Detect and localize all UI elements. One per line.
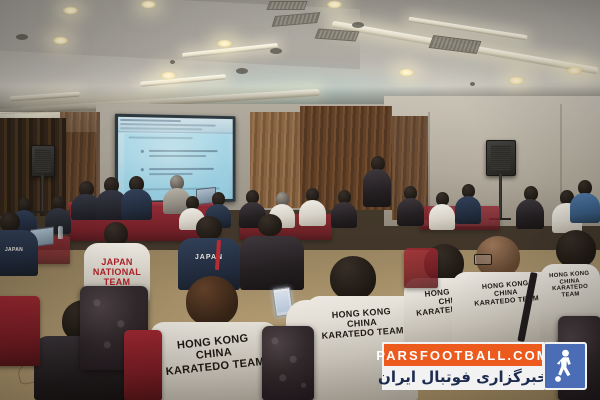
eyeglasses <box>474 254 492 265</box>
sprinkler-head-1 <box>170 60 175 64</box>
hk-jersey-text-1: HONG KONG CHINA KARATEDO TEAM <box>148 329 279 379</box>
audience-torso-b9 <box>455 196 481 224</box>
audience-torso-b7 <box>397 198 424 226</box>
hk-member-5-head <box>556 230 596 268</box>
japan-navy-member-1-torso: JAPAN <box>0 230 38 276</box>
audience-torso-b12 <box>570 193 600 223</box>
hk-jersey-text-2: HONG KONG CHINA KARATEDO TEAM <box>305 304 419 342</box>
standing-presenter-torso <box>363 169 391 207</box>
audience-torso-m1 <box>240 236 304 290</box>
audience-torso-b5 <box>299 200 326 226</box>
parsfootball-logo <box>543 342 587 390</box>
audience-torso-b6 <box>331 202 357 228</box>
hk-member-1-head <box>186 276 238 326</box>
hk-jersey-text-5: HONG KONG CHINA KARATEDO TEAM <box>541 270 599 301</box>
hk-member-2-head <box>330 256 376 300</box>
downlight-9 <box>566 66 583 75</box>
japan-national-team-jersey-text: JAPAN NATIONAL TEAM <box>84 257 150 287</box>
chair-red-3 <box>404 248 438 288</box>
downlight-3 <box>52 36 69 45</box>
ceiling-fixture-dark-4 <box>352 22 364 28</box>
japan-navy-member-1-head <box>0 212 20 232</box>
audience-torso-b8 <box>429 204 455 230</box>
downlight-7 <box>398 68 415 77</box>
ceiling-fixture-dark-3 <box>270 48 282 54</box>
conference-room-photo: JAPAN JAPAN NATIONAL TEAM JAPAN HONG KON… <box>0 0 600 400</box>
left-speaker-stand <box>41 175 44 213</box>
wall-seam-1 <box>428 112 430 216</box>
water-bottle-2 <box>58 226 63 239</box>
parsfootball-watermark: PARSFOOTBALL.COM خبرگزاری فوتبال ایران <box>382 342 587 390</box>
audience-torso-b10 <box>516 199 544 229</box>
japan-navy-jersey-text-2: JAPAN <box>178 254 240 262</box>
panel-member-3-torso <box>121 189 152 220</box>
ceiling-fixture-dark-1 <box>16 34 28 40</box>
document-toolbar <box>118 117 233 134</box>
downlight-1 <box>62 6 79 15</box>
hk-member-1-torso: HONG KONG CHINA KARATEDO TEAM <box>150 322 278 400</box>
japan-navy-member-2-head <box>196 216 222 240</box>
footballer-icon <box>552 349 578 383</box>
right-speaker <box>486 140 516 176</box>
downlight-5 <box>160 71 177 80</box>
chair-red-2 <box>124 330 162 400</box>
ceiling-fixture-dark-2 <box>236 68 248 74</box>
chair-dark-2-pattern <box>262 326 314 400</box>
watermark-persian-bar: خبرگزاری فوتبال ایران <box>382 366 544 390</box>
watermark-site-label: PARSFOOTBALL.COM <box>376 348 549 363</box>
left-speaker <box>31 145 55 177</box>
ceiling-vent-2 <box>266 1 307 10</box>
downlight-6 <box>326 0 343 9</box>
japan-navy-jersey-text-1: JAPAN <box>0 248 38 254</box>
watermark-persian-label: خبرگزاری فوتبال ایران <box>378 368 548 386</box>
chair-red-1 <box>0 296 40 366</box>
audience-head-m1 <box>258 214 282 236</box>
downlight-2 <box>140 0 157 9</box>
downlight-8 <box>508 76 525 85</box>
downlight-4 <box>216 39 233 48</box>
watermark-site-bar: PARSFOOTBALL.COM <box>382 342 544 366</box>
